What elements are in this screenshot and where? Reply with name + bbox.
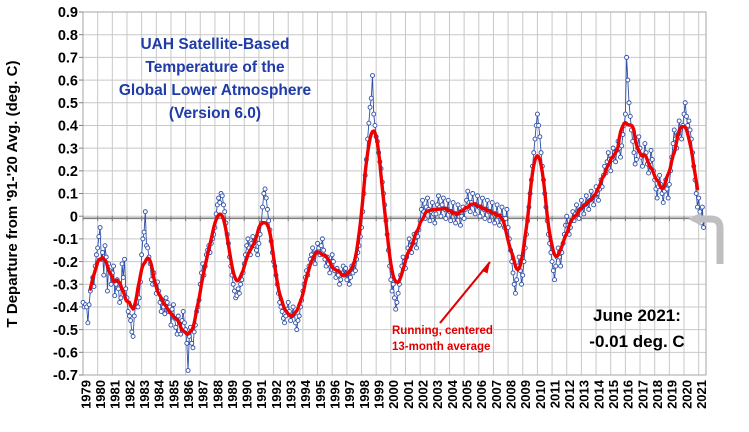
monthly-data-point — [389, 278, 393, 282]
monthly-data-point — [698, 210, 702, 214]
monthly-data-point — [539, 151, 543, 155]
monthly-data-point — [440, 203, 444, 207]
monthly-data-point — [520, 282, 524, 286]
monthly-data-point — [246, 237, 250, 241]
monthly-data-point — [369, 96, 373, 100]
monthly-data-point — [291, 305, 295, 309]
chart-container: 0.90.80.70.60.50.40.30.20.10-0.1-0.2-0.3… — [0, 0, 749, 432]
y-axis-tick-label: -0.7 — [53, 368, 78, 384]
monthly-data-point — [695, 205, 699, 209]
monthly-data-point — [655, 196, 659, 200]
monthly-data-point — [538, 135, 542, 139]
monthly-data-point — [433, 221, 437, 225]
monthly-data-point — [687, 119, 691, 123]
monthly-data-point — [458, 223, 462, 227]
monthly-data-point — [347, 282, 351, 286]
monthly-data-point — [684, 114, 688, 118]
monthly-data-point — [236, 287, 240, 291]
monthly-data-point — [471, 192, 475, 196]
x-axis-tick-label: 2012 — [562, 380, 577, 409]
monthly-data-point — [614, 160, 618, 164]
x-axis-tick-label: 2018 — [650, 380, 665, 409]
x-axis-tick-label: 1990 — [240, 380, 255, 409]
monthly-data-point — [182, 321, 186, 325]
monthly-data-point — [231, 282, 235, 286]
monthly-data-point — [344, 266, 348, 270]
monthly-data-point — [390, 289, 394, 293]
monthly-data-point — [462, 216, 466, 220]
x-axis-tick-label: 2005 — [459, 380, 474, 409]
monthly-data-point — [414, 246, 418, 250]
x-axis-tick-label: 2015 — [606, 380, 621, 409]
monthly-data-point — [647, 171, 651, 175]
monthly-data-point — [105, 289, 109, 293]
monthly-data-point — [428, 219, 432, 223]
monthly-data-point — [579, 198, 583, 202]
monthly-data-point — [263, 187, 267, 191]
monthly-data-point — [191, 346, 195, 350]
x-axis-tick-label: 1994 — [298, 379, 313, 409]
monthly-data-point — [625, 55, 629, 59]
monthly-data-point — [94, 253, 98, 257]
monthly-data-point — [658, 173, 662, 177]
x-axis-tick-label: 1999 — [372, 380, 387, 409]
monthly-data-point — [672, 128, 676, 132]
monthly-data-point — [488, 219, 492, 223]
x-axis-tick-label: 1987 — [196, 380, 211, 409]
monthly-data-point — [694, 192, 698, 196]
monthly-data-point — [394, 307, 398, 311]
monthly-data-point — [565, 214, 569, 218]
monthly-data-point — [140, 253, 144, 257]
monthly-data-point — [637, 135, 641, 139]
monthly-data-point — [136, 305, 140, 309]
monthly-data-point — [190, 341, 194, 345]
monthly-data-point — [550, 260, 554, 264]
y-axis-tick-label: 0.3 — [58, 141, 78, 157]
monthly-data-point — [500, 205, 504, 209]
monthly-data-point — [223, 210, 227, 214]
y-axis-tick-label: 0.1 — [58, 187, 78, 203]
monthly-data-point — [112, 264, 116, 268]
monthly-data-point — [143, 210, 147, 214]
monthly-data-point — [118, 300, 122, 304]
x-axis-tick-label: 1982 — [122, 380, 137, 409]
latest-callout-line-2: -0.01 deg. C — [589, 332, 684, 351]
monthly-data-point — [185, 341, 189, 345]
monthly-data-point — [444, 216, 448, 220]
monthly-data-point — [171, 303, 175, 307]
monthly-data-point — [120, 262, 124, 266]
chart-title-line-3: Global Lower Atmosphere — [119, 82, 312, 99]
monthly-data-point — [407, 237, 411, 241]
y-axis-tick-label: 0.7 — [58, 51, 78, 67]
y-axis-tick-label: -0.1 — [53, 232, 78, 248]
monthly-data-point — [575, 203, 579, 207]
x-axis-tick-label: 2020 — [679, 380, 694, 409]
monthly-data-point — [592, 203, 596, 207]
y-axis-tick-label: -0.3 — [53, 277, 78, 293]
monthly-data-point — [126, 309, 130, 313]
monthly-data-point — [537, 123, 541, 127]
monthly-data-point — [430, 201, 434, 205]
x-axis-tick-label: 2021 — [694, 380, 709, 409]
y-axis-tick-label: -0.6 — [53, 346, 78, 362]
y-axis-tick-label: 0 — [70, 209, 78, 225]
monthly-data-point — [473, 212, 477, 216]
monthly-data-point — [174, 325, 178, 329]
monthly-data-point — [283, 321, 287, 325]
monthly-data-point — [254, 248, 258, 252]
monthly-data-point — [368, 105, 372, 109]
monthly-data-point — [634, 157, 638, 161]
monthly-data-point — [451, 201, 455, 205]
monthly-data-point — [103, 244, 107, 248]
monthly-data-point — [123, 257, 127, 261]
monthly-data-point — [262, 192, 266, 196]
monthly-data-point — [661, 201, 665, 205]
y-axis-tick-label: 0.2 — [58, 164, 78, 180]
monthly-data-point — [130, 330, 134, 334]
monthly-data-point — [320, 237, 324, 241]
y-axis-tick-label: 0.9 — [58, 5, 78, 21]
monthly-data-point — [338, 282, 342, 286]
monthly-data-point — [322, 248, 326, 252]
monthly-data-point — [113, 294, 117, 298]
x-axis-ticks: 1979198019811982198319841985198619871988… — [78, 379, 709, 409]
monthly-data-point — [421, 198, 425, 202]
monthly-data-point — [677, 119, 681, 123]
monthly-data-point — [142, 230, 146, 234]
monthly-data-point — [131, 334, 135, 338]
y-axis-tick-label: 0.8 — [58, 28, 78, 44]
monthly-data-point — [627, 101, 631, 105]
monthly-data-point — [129, 319, 133, 323]
monthly-data-point — [170, 307, 174, 311]
monthly-data-point — [454, 221, 458, 225]
chart-title-line-1: UAH Satellite-Based — [140, 36, 289, 53]
monthly-data-point — [96, 246, 100, 250]
monthly-data-point — [239, 282, 243, 286]
monthly-data-point — [328, 271, 332, 275]
smoothing-annotation-line-1: Running, centered — [392, 325, 493, 337]
monthly-data-point — [164, 296, 168, 300]
monthly-data-point — [396, 291, 400, 295]
monthly-data-point — [261, 205, 265, 209]
monthly-data-point — [480, 196, 484, 200]
monthly-data-point — [349, 275, 353, 279]
monthly-data-point — [483, 216, 487, 220]
x-axis-tick-label: 2008 — [503, 380, 518, 409]
monthly-data-point — [618, 155, 622, 159]
monthly-data-point — [589, 189, 593, 193]
monthly-data-point — [449, 219, 453, 223]
x-axis-tick-label: 2006 — [474, 380, 489, 409]
monthly-data-point — [181, 309, 185, 313]
monthly-data-point — [296, 319, 300, 323]
monthly-data-point — [680, 137, 684, 141]
monthly-data-point — [632, 151, 636, 155]
monthly-data-point — [425, 196, 429, 200]
monthly-data-point — [650, 157, 654, 161]
monthly-data-point — [391, 282, 395, 286]
monthly-data-point — [141, 237, 145, 241]
monthly-data-point — [456, 203, 460, 207]
x-axis-tick-label: 2019 — [665, 380, 680, 409]
monthly-data-point — [221, 203, 225, 207]
monthly-data-point — [146, 246, 150, 250]
monthly-data-point — [666, 196, 670, 200]
monthly-data-point — [295, 328, 299, 332]
monthly-data-point — [436, 194, 440, 198]
monthly-data-point — [554, 264, 558, 268]
monthly-data-point — [353, 269, 357, 273]
monthly-data-point — [493, 221, 497, 225]
monthly-data-point — [86, 321, 90, 325]
monthly-data-point — [179, 332, 183, 336]
x-axis-tick-label: 1989 — [225, 380, 240, 409]
x-axis-tick-label: 1985 — [166, 380, 181, 409]
monthly-data-point — [702, 226, 706, 230]
x-axis-tick-label: 1988 — [210, 380, 225, 409]
x-axis-tick-label: 1980 — [93, 380, 108, 409]
monthly-data-point — [577, 216, 581, 220]
x-axis-tick-label: 1991 — [254, 380, 269, 409]
x-axis-tick-label: 1992 — [269, 380, 284, 409]
monthly-data-point — [393, 296, 397, 300]
monthly-data-point — [515, 278, 519, 282]
monthly-data-point — [256, 253, 260, 257]
monthly-data-point — [466, 189, 470, 193]
x-axis-tick-label: 1986 — [181, 380, 196, 409]
monthly-data-point — [330, 253, 334, 257]
monthly-data-point — [98, 226, 102, 230]
monthly-data-point — [127, 314, 131, 318]
monthly-data-point — [87, 303, 91, 307]
monthly-data-point — [265, 207, 269, 211]
monthly-data-point — [584, 194, 588, 198]
monthly-data-point — [597, 198, 601, 202]
x-axis-tick-label: 2011 — [547, 380, 562, 408]
smoothing-annotation-line-2: 13-month average — [392, 341, 490, 353]
x-axis-tick-label: 2004 — [445, 379, 460, 409]
monthly-data-point — [297, 314, 301, 318]
x-axis-tick-label: 1995 — [313, 380, 328, 409]
x-axis-tick-label: 2000 — [386, 380, 401, 409]
monthly-data-point — [700, 205, 704, 209]
monthly-data-point — [102, 273, 106, 277]
monthly-data-point — [513, 291, 517, 295]
monthly-data-point — [367, 121, 371, 125]
x-axis-tick-label: 2009 — [518, 380, 533, 409]
monthly-data-point — [119, 296, 123, 300]
monthly-data-point — [468, 210, 472, 214]
monthly-data-point — [339, 278, 343, 282]
monthly-data-point — [609, 169, 613, 173]
monthly-data-point — [478, 214, 482, 218]
latest-callout-line-1: June 2021: — [593, 306, 681, 325]
x-axis-tick-label: 2001 — [401, 380, 416, 409]
monthly-data-point — [186, 368, 190, 372]
monthly-data-point — [441, 196, 445, 200]
monthly-data-point — [495, 203, 499, 207]
x-axis-tick-label: 2010 — [533, 380, 548, 409]
monthly-data-point — [372, 112, 376, 116]
monthly-data-point — [665, 187, 669, 191]
x-axis-tick-label: 1979 — [78, 380, 93, 409]
monthly-data-point — [640, 164, 644, 168]
chart-title-line-2: Temperature of the — [145, 59, 285, 76]
monthly-data-point — [476, 194, 480, 198]
y-axis-tick-label: 0.6 — [58, 73, 78, 89]
monthly-data-point — [490, 201, 494, 205]
monthly-data-point — [623, 112, 627, 116]
monthly-data-point — [505, 207, 509, 211]
monthly-data-point — [395, 300, 399, 304]
monthly-data-point — [434, 212, 438, 216]
monthly-data-point — [511, 271, 515, 275]
monthly-data-point — [683, 101, 687, 105]
x-axis-tick-label: 2016 — [621, 380, 636, 409]
monthly-data-point — [498, 223, 502, 227]
chart-title-line-4: (Version 6.0) — [169, 105, 261, 122]
monthly-data-point — [697, 196, 701, 200]
x-axis-tick-label: 1996 — [328, 380, 343, 409]
monthly-data-point — [121, 275, 125, 279]
monthly-data-point — [535, 112, 539, 116]
monthly-data-point — [512, 282, 516, 286]
monthly-data-point — [313, 262, 317, 266]
x-axis-tick-label: 2003 — [430, 380, 445, 409]
x-axis-tick-label: 2013 — [577, 380, 592, 409]
monthly-data-point — [319, 244, 323, 248]
monthly-data-point — [371, 74, 375, 78]
y-axis-tick-label: 0.5 — [58, 96, 78, 112]
monthly-data-point — [132, 314, 136, 318]
y-axis-tick-label: -0.2 — [53, 255, 78, 271]
y-axis-tick-label: -0.5 — [53, 323, 78, 339]
monthly-data-point — [633, 162, 637, 166]
monthly-data-point — [521, 273, 525, 277]
monthly-data-point — [97, 235, 101, 239]
x-axis-tick-label: 1993 — [284, 380, 299, 409]
monthly-data-point — [553, 278, 557, 282]
monthly-data-point — [620, 144, 624, 148]
monthly-data-point — [582, 212, 586, 216]
x-axis-tick-label: 1998 — [357, 380, 372, 409]
monthly-data-point — [289, 319, 293, 323]
monthly-data-point — [587, 207, 591, 211]
monthly-data-point — [533, 137, 537, 141]
monthly-data-point — [169, 323, 173, 327]
monthly-data-point — [220, 194, 224, 198]
monthly-data-point — [626, 78, 630, 82]
monthly-data-point — [551, 269, 555, 273]
monthly-data-point — [485, 198, 489, 202]
monthly-data-point — [606, 151, 610, 155]
monthly-data-point — [643, 142, 647, 146]
y-axis-tick-label: 0.4 — [58, 119, 78, 135]
monthly-data-point — [446, 198, 450, 202]
monthly-data-point — [373, 123, 377, 127]
monthly-data-point — [264, 196, 268, 200]
monthly-data-point — [257, 241, 261, 245]
x-axis-tick-label: 1997 — [342, 380, 357, 409]
x-axis-tick-label: 2017 — [635, 380, 650, 409]
x-axis-tick-label: 1983 — [137, 380, 152, 409]
y-axis-label: T Departure from '91-'20 Avg. (deg. C) — [4, 61, 21, 328]
monthly-data-point — [109, 282, 113, 286]
x-axis-tick-label: 2014 — [591, 379, 606, 409]
monthly-data-point — [667, 182, 671, 186]
x-axis-tick-label: 1981 — [108, 380, 123, 409]
x-axis-tick-label: 2002 — [415, 380, 430, 409]
uah-temperature-chart: 0.90.80.70.60.50.40.30.20.10-0.1-0.2-0.3… — [0, 0, 749, 432]
monthly-data-point — [101, 250, 105, 254]
monthly-data-point — [628, 114, 632, 118]
y-axis-tick-label: -0.4 — [53, 300, 78, 316]
x-axis-tick-label: 2007 — [489, 380, 504, 409]
monthly-data-point — [311, 246, 315, 250]
monthly-data-point — [286, 300, 290, 304]
monthly-data-point — [439, 214, 443, 218]
x-axis-tick-label: 1984 — [152, 379, 167, 409]
monthly-data-point — [559, 264, 563, 268]
monthly-data-point — [649, 148, 653, 152]
monthly-data-point — [237, 291, 241, 295]
monthly-data-point — [532, 151, 536, 155]
